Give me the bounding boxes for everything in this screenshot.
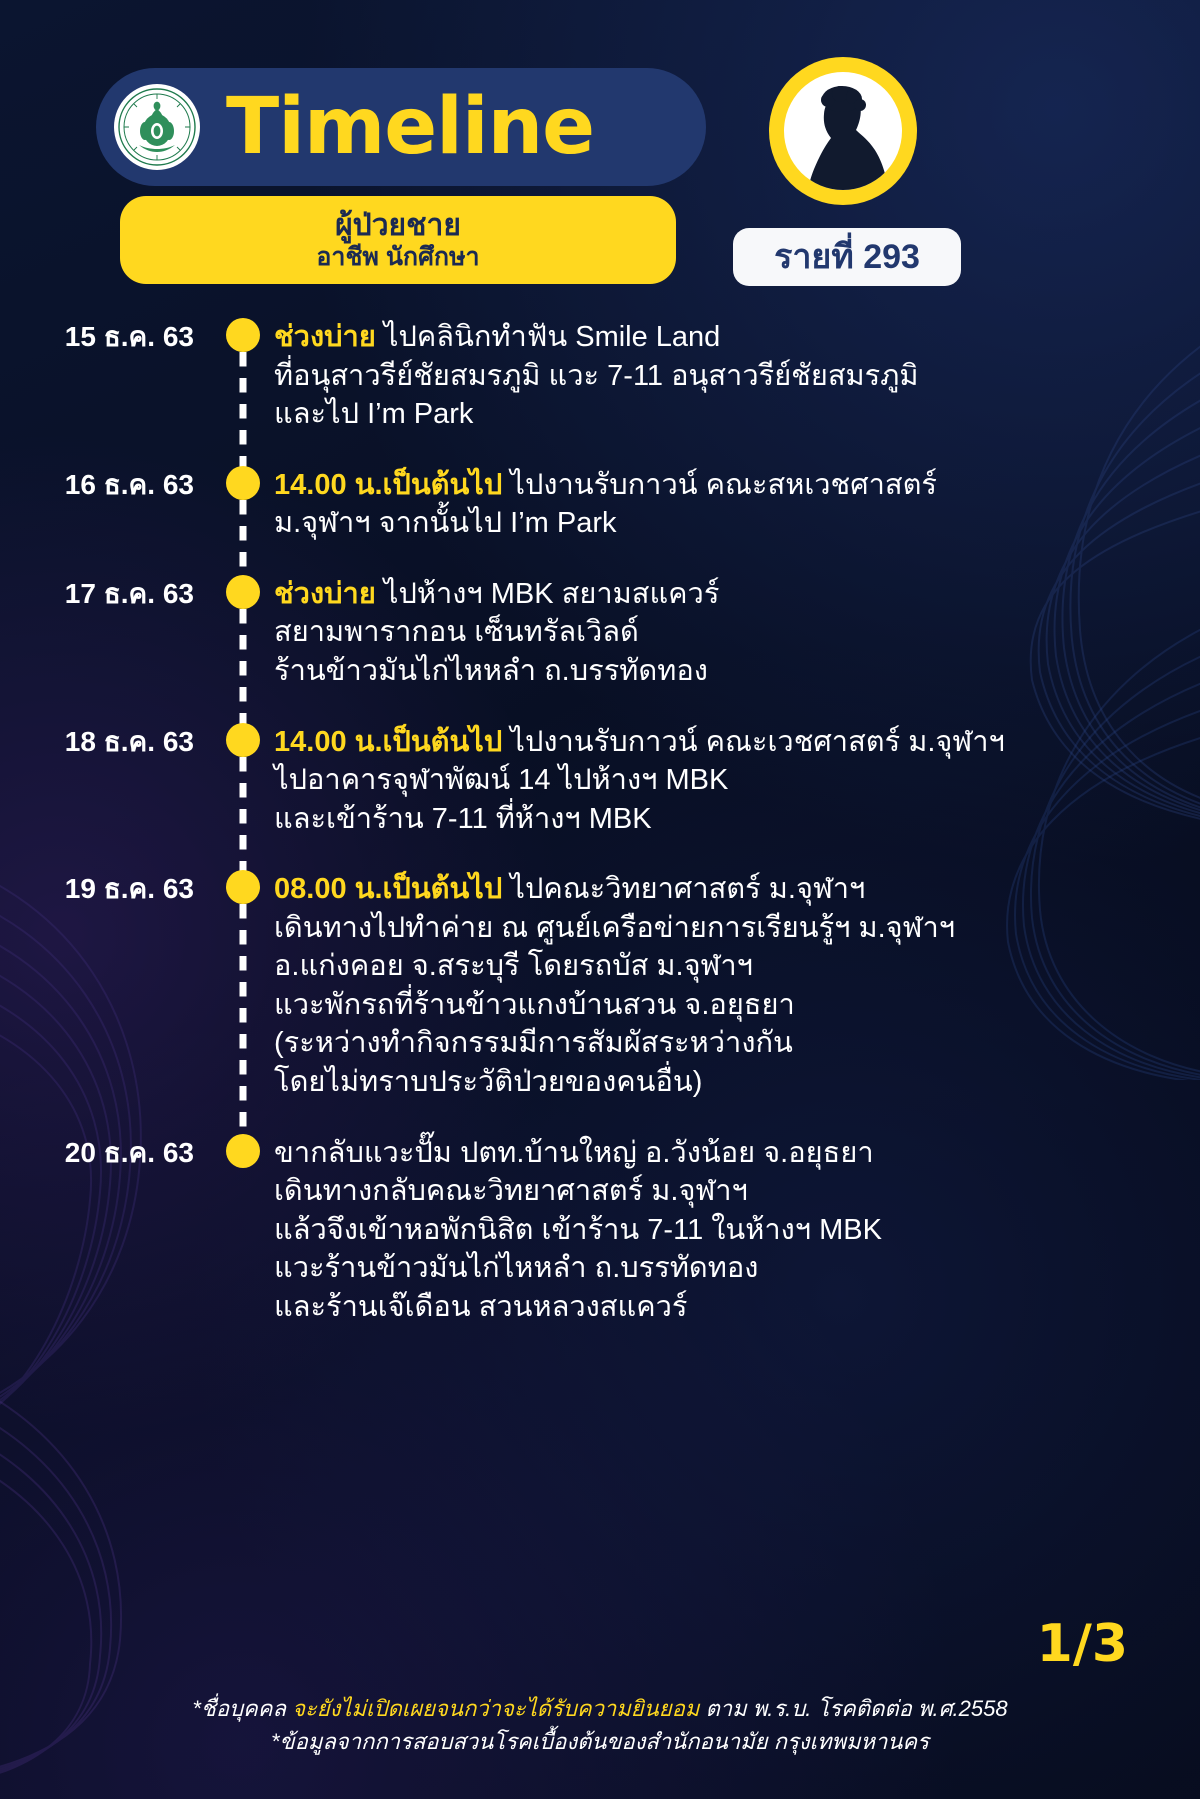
timeline-entry-date: 18 ธ.ค. 63 — [0, 723, 212, 756]
bma-emblem-icon — [114, 84, 200, 170]
timeline-connector — [240, 609, 247, 729]
timeline-entry-line: แวะพักรถที่ร้านข้าวแกงบ้านสวน จ.อยุธยา — [274, 986, 1172, 1025]
timeline-dot-icon — [226, 1134, 260, 1168]
timeline-entry-line: 14.00 น.เป็นต้นไป ไปงานรับกาวน์ คณะสหเวช… — [274, 466, 1172, 505]
timeline-entry-time-highlight: ช่วงบ่าย — [274, 321, 376, 353]
timeline-entry-line: ช่วงบ่าย ไปคลินิกทำฟัน Smile Land — [274, 318, 1172, 357]
timeline-entry-line: ขากลับแวะปั๊ม ปตท.บ้านใหญ่ อ.วังน้อย จ.อ… — [274, 1134, 1172, 1173]
timeline-dot-icon — [226, 723, 260, 757]
timeline-entry-line: และไป I’m Park — [274, 395, 1172, 434]
timeline-entry-line: แวะร้านข้าวมันไก่ไหหลำ ถ.บรรทัดทอง — [274, 1249, 1172, 1288]
timeline-dot-icon — [226, 466, 260, 500]
timeline-entry-line: แล้วจึงเข้าหอพักนิสิต เข้าร้าน 7-11 ในห้… — [274, 1211, 1172, 1250]
timeline-entry-date: 17 ธ.ค. 63 — [0, 575, 212, 608]
disclaimer-source: *ข้อมูลจากการสอบสวนโรคเบื้องต้นของสำนักอ… — [0, 1725, 1200, 1758]
timeline-entry-line: ที่อนุสาวรีย์ชัยสมรภูมิ แวะ 7-11 อนุสาวร… — [274, 357, 1172, 396]
timeline-entry: 16 ธ.ค. 6314.00 น.เป็นต้นไป ไปงานรับกาวน… — [0, 466, 1200, 543]
timeline-entry-body: ช่วงบ่าย ไปคลินิกทำฟัน Smile Landที่อนุส… — [274, 318, 1200, 434]
timeline-dot-icon — [226, 318, 260, 352]
timeline-entry-line: เดินทางกลับคณะวิทยาศาสตร์ ม.จุฬาฯ — [274, 1172, 1172, 1211]
timeline-entry-line: สยามพารากอน เซ็นทรัลเวิลด์ — [274, 613, 1172, 652]
timeline-entry-line: (ระหว่างทำกิจกรรมมีการสัมผัสระหว่างกัน — [274, 1024, 1172, 1063]
timeline-entry-body: 14.00 น.เป็นต้นไป ไปงานรับกาวน์ คณะสหเวช… — [274, 466, 1200, 543]
person-silhouette-avatar-icon — [784, 72, 902, 190]
timeline-entry-line: และร้านเจ๊เดือน สวนหลวงสแควร์ — [274, 1288, 1172, 1327]
timeline-connector — [240, 757, 247, 877]
avatar — [769, 57, 917, 205]
timeline-entry-time-highlight: 14.00 น.เป็นต้นไป — [274, 726, 502, 758]
page-title: Timeline — [226, 88, 594, 166]
timeline-connector — [240, 500, 247, 581]
timeline-poster: Timeline ผู้ป่วยชาย อาชีพ นักศึกษา — [0, 0, 1200, 1799]
footer-notes: *ชื่อบุคคล จะยังไม่เปิดเผยจนกว่าจะได้รับ… — [0, 1692, 1200, 1758]
timeline-entry-date: 16 ธ.ค. 63 — [0, 466, 212, 499]
timeline-entry-body: ขากลับแวะปั๊ม ปตท.บ้านใหญ่ อ.วังน้อย จ.อ… — [274, 1134, 1200, 1327]
timeline-connector — [240, 904, 247, 1139]
timeline-entry-date: 15 ธ.ค. 63 — [0, 318, 212, 351]
timeline-entry-line-text: ไปห้างฯ MBK สยามสแควร์ — [376, 578, 720, 610]
timeline-entry-line: เดินทางไปทำค่าย ณ ศูนย์เครือข่ายการเรียน… — [274, 909, 1172, 948]
timeline-entry-line-text: ไปคลินิกทำฟัน Smile Land — [376, 321, 721, 353]
timeline-entry-line: 08.00 น.เป็นต้นไป ไปคณะวิทยาศาสตร์ ม.จุฬ… — [274, 870, 1172, 909]
status-badge: รายที่ 293 — [733, 228, 961, 286]
timeline-entry-line: โดยไม่ทราบประวัติป่วยของคนอื่น) — [274, 1063, 1172, 1102]
timeline-marker — [212, 466, 274, 500]
timeline-marker — [212, 723, 274, 757]
timeline-entry: 19 ธ.ค. 6308.00 น.เป็นต้นไป ไปคณะวิทยาศา… — [0, 870, 1200, 1101]
timeline-entry-date: 19 ธ.ค. 63 — [0, 870, 212, 903]
timeline-entry-time-highlight: 08.00 น.เป็นต้นไป — [274, 873, 502, 905]
timeline-entry-line-text: ไปงานรับกาวน์ คณะเวชศาสตร์ ม.จุฬาฯ — [502, 726, 1005, 758]
timeline-entry-line: อ.แก่งคอย จ.สระบุรี โดยรถบัส ม.จุฬาฯ — [274, 947, 1172, 986]
timeline-entry-line-text: ไปคณะวิทยาศาสตร์ ม.จุฬาฯ — [502, 873, 865, 905]
timeline-entry-line: 14.00 น.เป็นต้นไป ไปงานรับกาวน์ คณะเวชศา… — [274, 723, 1172, 762]
timeline-entry-time-highlight: ช่วงบ่าย — [274, 578, 376, 610]
case-number-label: รายที่ 293 — [774, 240, 920, 274]
timeline-entry: 17 ธ.ค. 63ช่วงบ่าย ไปห้างฯ MBK สยามสแควร… — [0, 575, 1200, 691]
disclaimer-consent-highlight: จะยังไม่เปิดเผยจนกว่าจะได้รับความยินยอม — [292, 1696, 699, 1721]
timeline-entry: 15 ธ.ค. 63ช่วงบ่าย ไปคลินิกทำฟัน Smile L… — [0, 318, 1200, 434]
page-number: 1/3 — [1037, 1618, 1128, 1670]
timeline-marker — [212, 318, 274, 352]
timeline-entry-body: 14.00 น.เป็นต้นไป ไปงานรับกาวน์ คณะเวชศา… — [274, 723, 1200, 839]
timeline-entry-line: และเข้าร้าน 7-11 ที่ห้างฯ MBK — [274, 800, 1172, 839]
timeline-entry-time-highlight: 14.00 น.เป็นต้นไป — [274, 469, 502, 501]
timeline-list: 15 ธ.ค. 63ช่วงบ่าย ไปคลินิกทำฟัน Smile L… — [0, 318, 1200, 1358]
timeline-entry-line-text: ไปงานรับกาวน์ คณะสหเวชศาสตร์ — [502, 469, 937, 501]
timeline-entry-date: 20 ธ.ค. 63 — [0, 1134, 212, 1167]
timeline-entry-body: 08.00 น.เป็นต้นไป ไปคณะวิทยาศาสตร์ ม.จุฬ… — [274, 870, 1200, 1101]
timeline-entry-line: ช่วงบ่าย ไปห้างฯ MBK สยามสแควร์ — [274, 575, 1172, 614]
patient-subtitle-pill: ผู้ป่วยชาย อาชีพ นักศึกษา — [120, 196, 676, 284]
timeline-dot-icon — [226, 870, 260, 904]
patient-type-label: ผู้ป่วยชาย — [335, 210, 461, 242]
timeline-entry: 20 ธ.ค. 63ขากลับแวะปั๊ม ปตท.บ้านใหญ่ อ.ว… — [0, 1134, 1200, 1327]
timeline-connector — [240, 352, 247, 472]
patient-occupation-label: อาชีพ นักศึกษา — [316, 244, 479, 270]
timeline-entry-line: ไปอาคารจุฬาพัฒน์ 14 ไปห้างฯ MBK — [274, 761, 1172, 800]
timeline-marker — [212, 575, 274, 609]
timeline-dot-icon — [226, 575, 260, 609]
timeline-entry-body: ช่วงบ่าย ไปห้างฯ MBK สยามสแควร์สยามพาราก… — [274, 575, 1200, 691]
timeline-entry-line: ร้านข้าวมันไก่ไหหลำ ถ.บรรทัดทอง — [274, 652, 1172, 691]
timeline-marker — [212, 870, 274, 904]
timeline-entry: 18 ธ.ค. 6314.00 น.เป็นต้นไป ไปงานรับกาวน… — [0, 723, 1200, 839]
disclaimer-consent-post: ตาม พ.ร.บ. โรคติดต่อ พ.ศ.2558 — [699, 1696, 1007, 1721]
title-pill: Timeline — [96, 68, 706, 186]
poster-header: Timeline ผู้ป่วยชาย อาชีพ นักศึกษา — [0, 0, 1200, 310]
disclaimer-consent: *ชื่อบุคคล จะยังไม่เปิดเผยจนกว่าจะได้รับ… — [0, 1692, 1200, 1725]
timeline-marker — [212, 1134, 274, 1168]
disclaimer-consent-pre: *ชื่อบุคคล — [192, 1696, 292, 1721]
timeline-entry-line: ม.จุฬาฯ จากนั้นไป I’m Park — [274, 504, 1172, 543]
